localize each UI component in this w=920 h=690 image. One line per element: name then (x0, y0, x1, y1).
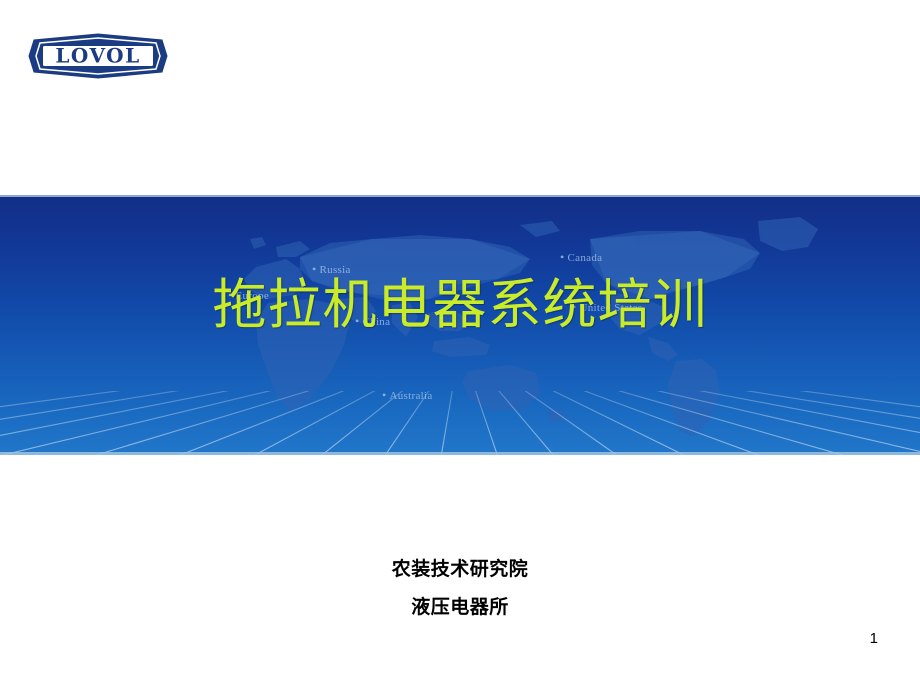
presentation-slide: LOVOL (0, 0, 920, 690)
slide-title: 拖拉机电器系统培训 (0, 273, 920, 337)
lovol-logo: LOVOL (28, 33, 168, 79)
banner-bottom-rule (0, 452, 920, 455)
lovol-logo-text: LOVOL (55, 44, 140, 68)
slide-subtitle: 农装技术研究院 液压电器所 (0, 550, 920, 626)
page-number: 1 (870, 630, 878, 647)
subtitle-line-2: 液压电器所 (0, 588, 920, 626)
subtitle-line-1: 农装技术研究院 (0, 550, 920, 588)
lovol-logo-icon: LOVOL (28, 33, 168, 79)
